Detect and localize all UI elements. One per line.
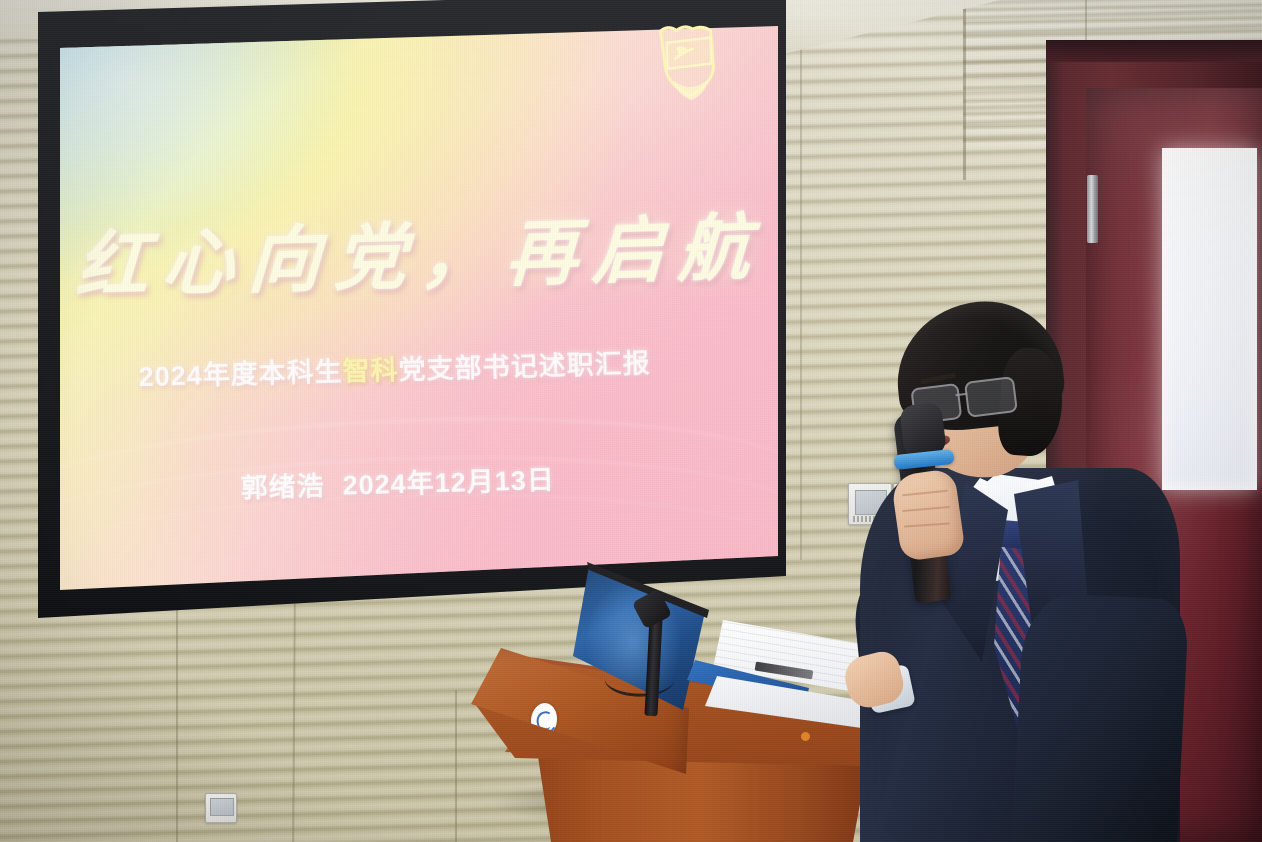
wall-seam <box>963 0 966 180</box>
door-header <box>1046 40 1262 62</box>
wall-outlet-small[interactable] <box>205 793 237 823</box>
podium-indicator-light <box>801 732 810 741</box>
wall-seam <box>800 0 802 560</box>
presenter-right-arm <box>1012 592 1190 842</box>
projection-screen-surface <box>18 0 786 630</box>
screenshot-root: 红心向党，再启航 2024年度本科生智科党支部书记述职汇报 郭绪浩2024年12… <box>0 0 1262 842</box>
presenter <box>850 296 1180 842</box>
door-hinge <box>1087 175 1098 243</box>
outlet-face <box>210 798 234 816</box>
presenter-hand-left <box>890 468 965 562</box>
